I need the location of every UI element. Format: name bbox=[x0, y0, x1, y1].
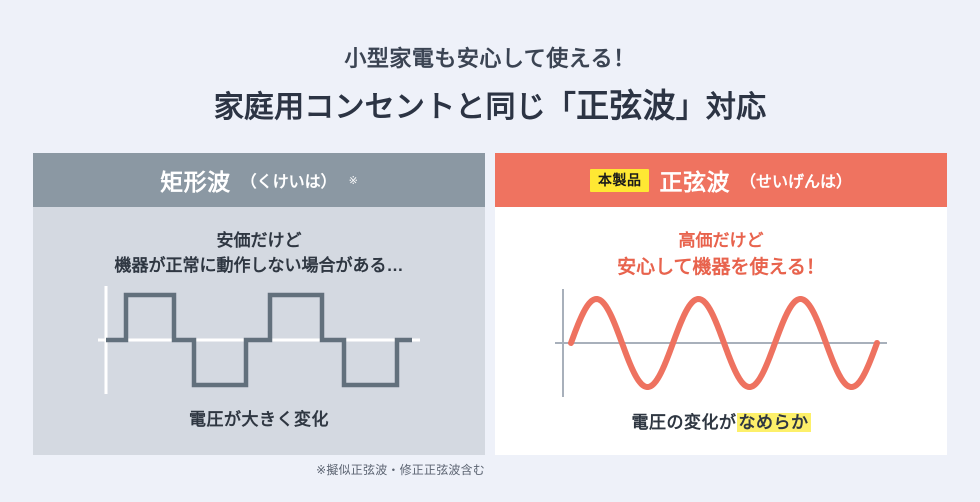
product-badge: 本製品 bbox=[590, 169, 650, 192]
panel-square-header: 矩形波 （くけいは） ※ bbox=[33, 153, 485, 207]
main-heading-prefix: 家庭用コンセントと同じ「 bbox=[214, 91, 576, 124]
panel-square-kana: （くけいは） bbox=[241, 168, 337, 192]
footnote: ※擬似正弦波・修正正弦波含む bbox=[33, 461, 485, 478]
panel-sine-description: 高価だけど 安心して機器を使える！ bbox=[617, 229, 825, 281]
panel-sine-title: 正弦波 bbox=[659, 163, 730, 197]
panel-sine-caption: 電圧の変化がなめらか bbox=[632, 408, 811, 433]
panel-square-body: 安価だけど 機器が正常に動作しない場合がある… 電圧が大きく変化 bbox=[33, 207, 485, 455]
panel-square-desc-line1: 安価だけど bbox=[115, 229, 404, 254]
panel-sine-desc-line1: 高価だけど bbox=[617, 229, 825, 254]
heading-block: 小型家電も安心して使える！ 家庭用コンセントと同じ「正弦波」対応 bbox=[0, 0, 980, 126]
infographic-page: 小型家電も安心して使える！ 家庭用コンセントと同じ「正弦波」対応 矩形波 （くけ… bbox=[0, 0, 980, 502]
panel-sine-wave: 本製品 正弦波 （せいげんは） 高価だけど 安心して機器を使える！ bbox=[495, 153, 947, 455]
panel-square-wave: 矩形波 （くけいは） ※ 安価だけど 機器が正常に動作しない場合がある… bbox=[33, 153, 485, 455]
panel-square-caption: 電圧が大きく変化 bbox=[189, 405, 329, 430]
panel-sine-desc-line2: 安心して機器を使える！ bbox=[617, 254, 825, 282]
panel-sine-body: 高価だけど 安心して機器を使える！ 電圧の変化がなめらか bbox=[495, 207, 947, 455]
square-wave-svg bbox=[94, 284, 424, 396]
panel-square-title: 矩形波 bbox=[160, 163, 231, 197]
footnote-marker-icon: ※ bbox=[349, 174, 358, 187]
main-heading-suffix: 」対応 bbox=[676, 91, 767, 124]
panel-sine-caption-plain: 電圧の変化が bbox=[632, 413, 737, 432]
sine-wave-chart bbox=[551, 287, 891, 404]
square-wave-chart bbox=[94, 284, 424, 401]
main-heading-emphasis: 正弦波 bbox=[576, 87, 676, 124]
page-title: 家庭用コンセントと同じ「正弦波」対応 bbox=[0, 86, 980, 126]
sine-wave-svg bbox=[551, 287, 891, 399]
panel-square-description: 安価だけど 機器が正常に動作しない場合がある… bbox=[115, 229, 404, 278]
panel-sine-header: 本製品 正弦波 （せいげんは） bbox=[495, 153, 947, 207]
panel-sine-caption-highlight: なめらか bbox=[737, 413, 811, 432]
comparison-panels: 矩形波 （くけいは） ※ 安価だけど 機器が正常に動作しない場合がある… bbox=[33, 153, 947, 455]
panel-sine-kana: （せいげんは） bbox=[740, 168, 852, 192]
panel-square-desc-line2: 機器が正常に動作しない場合がある… bbox=[115, 254, 404, 279]
sub-heading: 小型家電も安心して使える！ bbox=[0, 46, 980, 72]
